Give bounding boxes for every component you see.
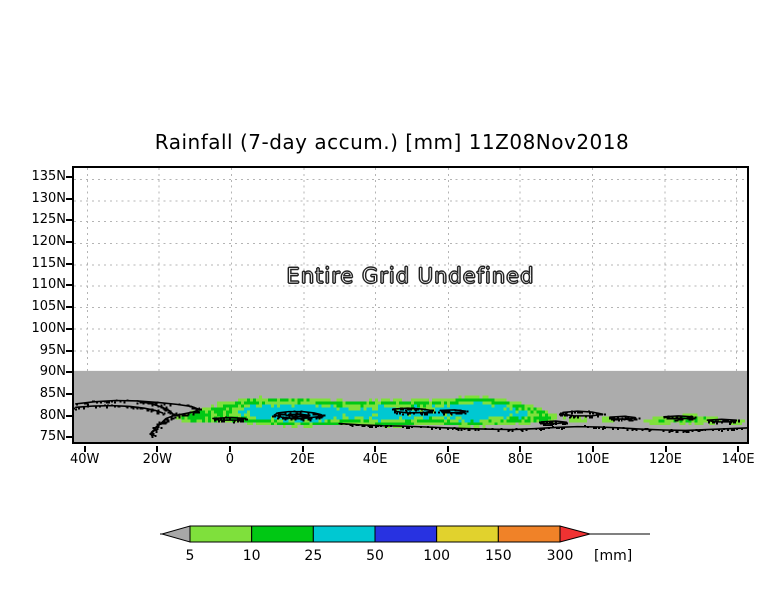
y-axis: 135N130N125N120N115N110N105N100N95N90N85… [8, 166, 66, 444]
y-axis-label: 125N [14, 212, 66, 227]
rainfall-map [74, 168, 747, 442]
colorbar-legend: [mm] 5102550100150300 [160, 524, 650, 568]
x-axis-label: 40E [345, 452, 405, 467]
x-axis-label: 140E [708, 452, 768, 467]
x-axis-label: 100E [563, 452, 623, 467]
y-axis-tick [66, 219, 72, 221]
x-axis-tick [302, 446, 304, 452]
x-axis-tick [665, 446, 667, 452]
colorbar-units-label: [mm] [594, 548, 632, 564]
x-axis-label: 40W [55, 452, 115, 467]
y-axis-tick [66, 371, 72, 373]
x-axis-label: 0 [200, 452, 260, 467]
x-axis-label: 120E [636, 452, 696, 467]
colorbar-tick-label: 150 [468, 548, 528, 564]
colorbar-tick-label: 10 [222, 548, 282, 564]
y-axis-tick [66, 176, 72, 178]
y-axis-tick [66, 198, 72, 200]
colorbar-tick-label: 100 [407, 548, 467, 564]
x-axis-label: 60E [418, 452, 478, 467]
x-axis-tick [84, 446, 86, 452]
y-axis-label: 110N [14, 277, 66, 292]
y-axis-tick [66, 436, 72, 438]
y-axis-label: 100N [14, 321, 66, 336]
y-axis-label: 115N [14, 256, 66, 271]
y-axis-tick [66, 284, 72, 286]
y-axis-tick [66, 350, 72, 352]
colorbar-tick-label: 300 [530, 548, 590, 564]
colorbar-swatches [160, 524, 650, 548]
x-axis-tick [229, 446, 231, 452]
y-axis-label: 80N [14, 408, 66, 423]
colorbar-tick-label: 5 [160, 548, 220, 564]
x-axis-tick [737, 446, 739, 452]
y-axis-tick [66, 306, 72, 308]
y-axis-label: 95N [14, 343, 66, 358]
x-axis-tick [374, 446, 376, 452]
y-axis-label: 90N [14, 364, 66, 379]
x-axis-tick [447, 446, 449, 452]
plot-area: Entire Grid Undefined [72, 166, 749, 444]
x-axis-tick [156, 446, 158, 452]
x-axis-label: 20E [273, 452, 333, 467]
y-axis-label: 130N [14, 191, 66, 206]
x-axis-tick [592, 446, 594, 452]
y-axis-label: 75N [14, 429, 66, 444]
y-axis-tick [66, 415, 72, 417]
y-axis-tick [66, 241, 72, 243]
x-axis-label: 20W [127, 452, 187, 467]
y-axis-label: 135N [14, 169, 66, 184]
colorbar-tick-label: 25 [283, 548, 343, 564]
colorbar-tick-label: 50 [345, 548, 405, 564]
x-axis: 40W20W020E40E60E80E100E120E140E [72, 446, 749, 472]
x-axis-tick [519, 446, 521, 452]
y-axis-label: 120N [14, 234, 66, 249]
y-axis-tick [66, 328, 72, 330]
y-axis-tick [66, 263, 72, 265]
x-axis-label: 80E [490, 452, 550, 467]
y-axis-label: 105N [14, 299, 66, 314]
y-axis-tick [66, 393, 72, 395]
y-axis-label: 85N [14, 386, 66, 401]
page-title: Rainfall (7-day accum.) [mm] 11Z08Nov201… [0, 130, 784, 154]
screenshot-root: Rainfall (7-day accum.) [mm] 11Z08Nov201… [0, 0, 784, 612]
